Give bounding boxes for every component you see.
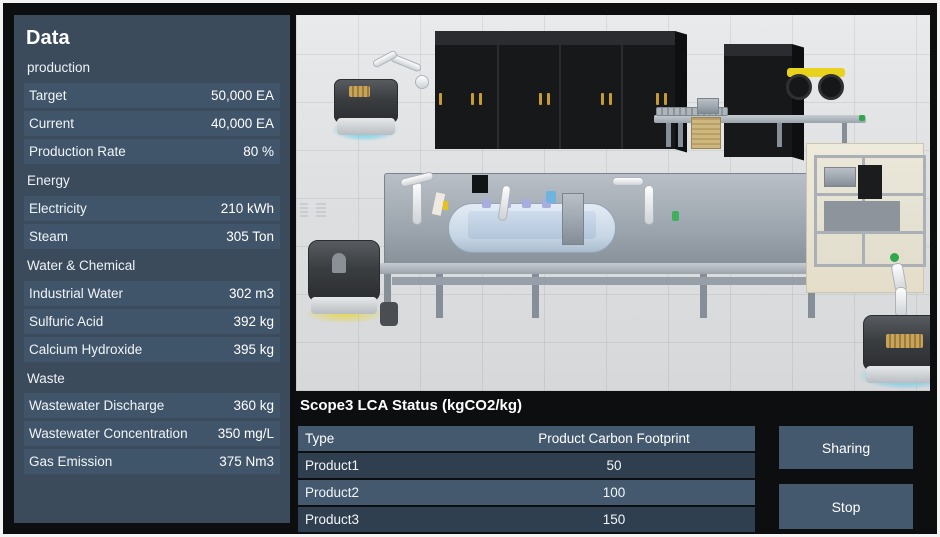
cabinet-marker-icon bbox=[547, 93, 550, 105]
data-row-key: Wastewater Discharge bbox=[29, 398, 164, 413]
agv-chassis bbox=[311, 297, 377, 314]
data-row-sulfuric-acid: Sulfuric Acid 392 kg bbox=[24, 309, 280, 334]
data-row-value: 302 m3 bbox=[229, 286, 274, 301]
data-sidebar: Data production Target 50,000 EA Current… bbox=[14, 15, 290, 523]
data-row-value: 50,000 EA bbox=[211, 88, 274, 103]
cell-footprint: 50 bbox=[473, 458, 755, 473]
material-crate bbox=[691, 117, 721, 149]
workcell-machine bbox=[824, 167, 856, 187]
robot-arm-segment bbox=[895, 287, 907, 317]
data-row-value: 395 kg bbox=[233, 342, 274, 357]
scope3-panel-title: Scope3 LCA Status (kgCO2/kg) bbox=[300, 397, 522, 414]
agv-pallet-cargo bbox=[886, 334, 923, 348]
cell-type: Product1 bbox=[298, 458, 473, 473]
cabinet-top-face bbox=[435, 31, 675, 45]
floor-marker bbox=[300, 201, 308, 217]
agv-mobile-robot-left bbox=[334, 79, 398, 123]
sidebar-group-label-waste: Waste bbox=[24, 365, 280, 394]
column-header-footprint: Product Carbon Footprint bbox=[473, 431, 755, 446]
sharing-button[interactable]: Sharing bbox=[779, 426, 913, 469]
cabinet-marker-icon bbox=[664, 93, 667, 105]
data-row-wastewater-discharge: Wastewater Discharge 360 kg bbox=[24, 393, 280, 418]
data-row-key: Current bbox=[29, 116, 74, 131]
agv-pallet-cargo bbox=[349, 86, 370, 97]
data-row-steam: Steam 305 Ton bbox=[24, 224, 280, 249]
tank-nozzle bbox=[522, 199, 531, 208]
tank-nozzle bbox=[482, 199, 491, 208]
conveyor-belt-upper bbox=[654, 115, 866, 123]
process-column bbox=[562, 193, 584, 245]
factory-3d-viewport[interactable] bbox=[296, 15, 930, 391]
cabinet-marker-icon bbox=[479, 93, 482, 105]
table-row[interactable]: Product3 150 bbox=[298, 507, 755, 532]
agv-chassis bbox=[337, 118, 395, 135]
transfer-unit bbox=[697, 98, 719, 114]
sidebar-group-label-water-chemical: Water & Chemical bbox=[24, 252, 280, 281]
data-row-value: 360 kg bbox=[233, 398, 274, 413]
data-row-value: 350 mg/L bbox=[218, 426, 274, 441]
cabinet-marker-icon bbox=[539, 93, 542, 105]
data-row-value: 392 kg bbox=[233, 314, 274, 329]
data-row-current: Current 40,000 EA bbox=[24, 111, 280, 136]
cabinet-top-face bbox=[724, 44, 792, 56]
data-row-key: Calcium Hydroxide bbox=[29, 342, 142, 357]
process-robot-arm bbox=[412, 181, 422, 225]
data-row-electricity: Electricity 210 kWh bbox=[24, 196, 280, 221]
data-row-key: Sulfuric Acid bbox=[29, 314, 103, 329]
table-row[interactable]: Product2 100 bbox=[298, 480, 755, 505]
data-row-key: Industrial Water bbox=[29, 286, 123, 301]
data-row-key: Target bbox=[29, 88, 67, 103]
data-row-key: Wastewater Concentration bbox=[29, 426, 188, 441]
process-robot-arm bbox=[612, 177, 644, 186]
data-row-industrial-water: Industrial Water 302 m3 bbox=[24, 281, 280, 306]
process-robot-arm bbox=[644, 185, 654, 225]
column-header-type: Type bbox=[298, 431, 473, 446]
data-row-calcium-hydroxide: Calcium Hydroxide 395 kg bbox=[24, 337, 280, 362]
cell-footprint: 100 bbox=[473, 485, 755, 500]
conveyor-leg bbox=[678, 123, 683, 147]
data-row-key: Gas Emission bbox=[29, 454, 112, 469]
floor-marker bbox=[316, 201, 326, 217]
data-row-target: Target 50,000 EA bbox=[24, 83, 280, 108]
scope3-lca-table: Type Product Carbon Footprint Product1 5… bbox=[298, 426, 755, 534]
data-row-key: Electricity bbox=[29, 201, 87, 216]
conveyor-belt-lower bbox=[370, 263, 852, 274]
data-row-value: 375 Nm3 bbox=[219, 454, 274, 469]
data-row-value: 40,000 EA bbox=[211, 116, 274, 131]
data-row-key: Production Rate bbox=[29, 144, 126, 159]
robot-arm-gripper bbox=[415, 75, 429, 89]
data-row-value: 305 Ton bbox=[226, 229, 274, 244]
data-row-gas-emission: Gas Emission 375 Nm3 bbox=[24, 449, 280, 474]
application-window: Data production Target 50,000 EA Current… bbox=[0, 0, 940, 537]
cabinet-marker-icon bbox=[601, 93, 604, 105]
agv-mobile-robot-right bbox=[863, 315, 930, 371]
cabinet-marker-icon bbox=[609, 93, 612, 105]
rotary-wheel bbox=[786, 74, 812, 100]
conveyor-leg bbox=[777, 123, 782, 147]
cabinet-marker-icon bbox=[439, 93, 442, 105]
rotary-wheel bbox=[818, 74, 844, 100]
cabinet-side-face bbox=[792, 44, 804, 160]
cabinet-marker-icon bbox=[656, 93, 659, 105]
data-row-value: 80 % bbox=[243, 144, 274, 159]
equipment-cabinet-bank bbox=[435, 31, 675, 149]
sidebar-group-label-energy: Energy bbox=[24, 167, 280, 196]
data-row-production-rate: Production Rate 80 % bbox=[24, 139, 280, 164]
cabinet-marker-icon bbox=[471, 93, 474, 105]
agv-chassis bbox=[866, 366, 930, 383]
cell-type: Product2 bbox=[298, 485, 473, 500]
table-row[interactable]: Product1 50 bbox=[298, 453, 755, 478]
cell-type: Product3 bbox=[298, 512, 473, 527]
sidebar-group-label-production: production bbox=[24, 54, 280, 83]
stop-button[interactable]: Stop bbox=[779, 484, 913, 529]
conveyor-leg bbox=[666, 123, 671, 147]
data-row-key: Steam bbox=[29, 229, 68, 244]
table-header-row: Type Product Carbon Footprint bbox=[298, 426, 755, 451]
cell-footprint: 150 bbox=[473, 512, 755, 527]
data-row-value: 210 kWh bbox=[221, 201, 274, 216]
data-row-wastewater-concentration: Wastewater Concentration 350 mg/L bbox=[24, 421, 280, 446]
sidebar-title: Data bbox=[24, 25, 280, 54]
